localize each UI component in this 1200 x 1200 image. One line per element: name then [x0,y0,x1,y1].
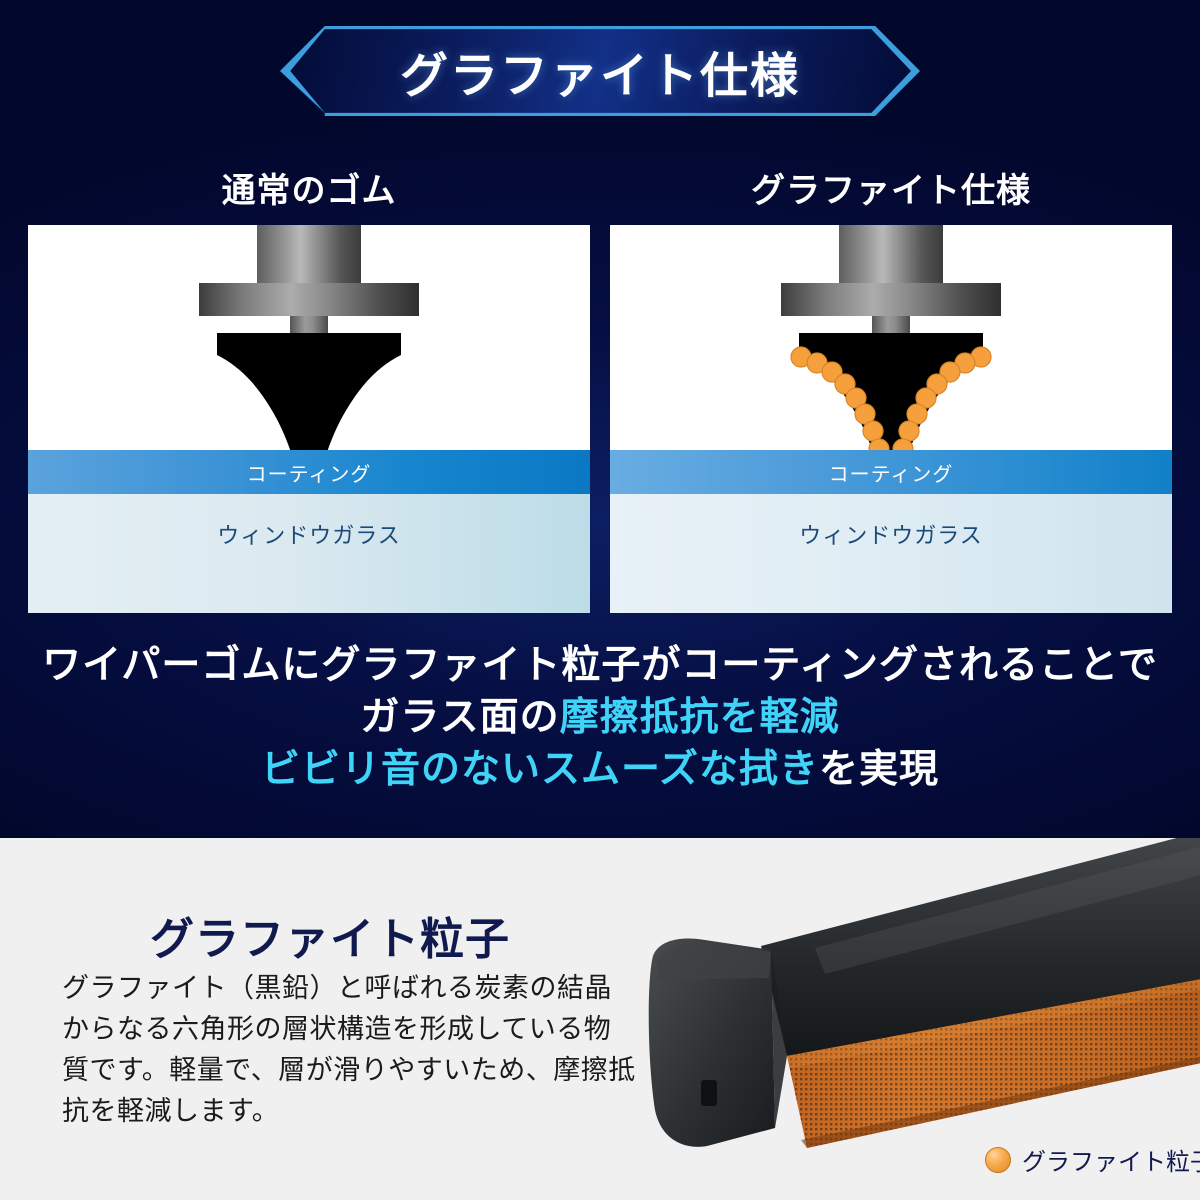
bottom-section-title: グラファイト粒子 [150,903,510,967]
coating-layer-graphite: コーティング [610,450,1172,494]
glass-layer-graphite: ウィンドウガラス [610,494,1172,613]
photo-legend: グラファイト粒子 [985,1142,1200,1177]
summary-line-2-highlight: 摩擦抵抗を軽減 [560,696,840,739]
diagram-card-graphite: スムーズな動き 摩擦抵抗が少ない グラファイト粒子 コーティング ウィンドウガラ… [610,225,1172,613]
summary-text: ワイパーゴムにグラファイト粒子がコーティングされることで ガラス面の摩擦抵抗を軽… [0,640,1200,796]
summary-line-2: ガラス面の摩擦抵抗を軽減 [0,692,1200,744]
summary-line-3-highlight-1: ビビリ音のない [261,748,541,791]
bottom-section-body: グラファイト（黒鉛）と呼ばれる炭素の結晶からなる六角形の層状構造を形成している物… [62,968,637,1132]
summary-line-3-suffix: を実現 [819,748,939,791]
coating-layer-normal: コーティング [28,450,590,494]
glass-layer-normal: ウィンドウガラス [28,494,590,613]
summary-line-3: ビビリ音のないスムーズな拭きを実現 [0,744,1200,796]
wiper-holder-cylinder [257,225,361,283]
graphite-particle-legend-label: グラファイト粒子 [1022,1142,1200,1177]
infographic-page: グラファイト仕様 通常のゴム グラファイト仕様 摩擦抵抗が大きい [0,0,1200,1200]
wiper-holder-bar [199,283,419,316]
graphite-particle-legend-icon [985,1147,1011,1173]
banner-title-text: グラファイト仕様 [280,26,920,116]
wiper-holder-bar [781,283,1001,316]
title-banner: グラファイト仕様 [280,26,920,116]
summary-line-3-highlight-2: スムーズな拭き [541,748,819,791]
summary-line-2-prefix: ガラス面の [360,696,559,739]
diagram-card-normal-rubber: 摩擦抵抗が大きい 摩擦でビビリ音 コーティング ウィンドウガラス [28,225,590,613]
wiper-holder-cylinder [839,225,943,283]
bottom-section: グラファイト粒子 グラファイト（黒鉛）と呼ばれる炭素の結晶からなる六角形の層状構… [0,838,1200,1200]
top-section: グラファイト仕様 通常のゴム グラファイト仕様 摩擦抵抗が大きい [0,0,1200,838]
summary-line-1: ワイパーゴムにグラファイト粒子がコーティングされることで [0,640,1200,692]
panel-header-graphite: グラファイト仕様 [610,163,1172,212]
panel-header-normal-rubber: 通常のゴム [28,163,590,212]
